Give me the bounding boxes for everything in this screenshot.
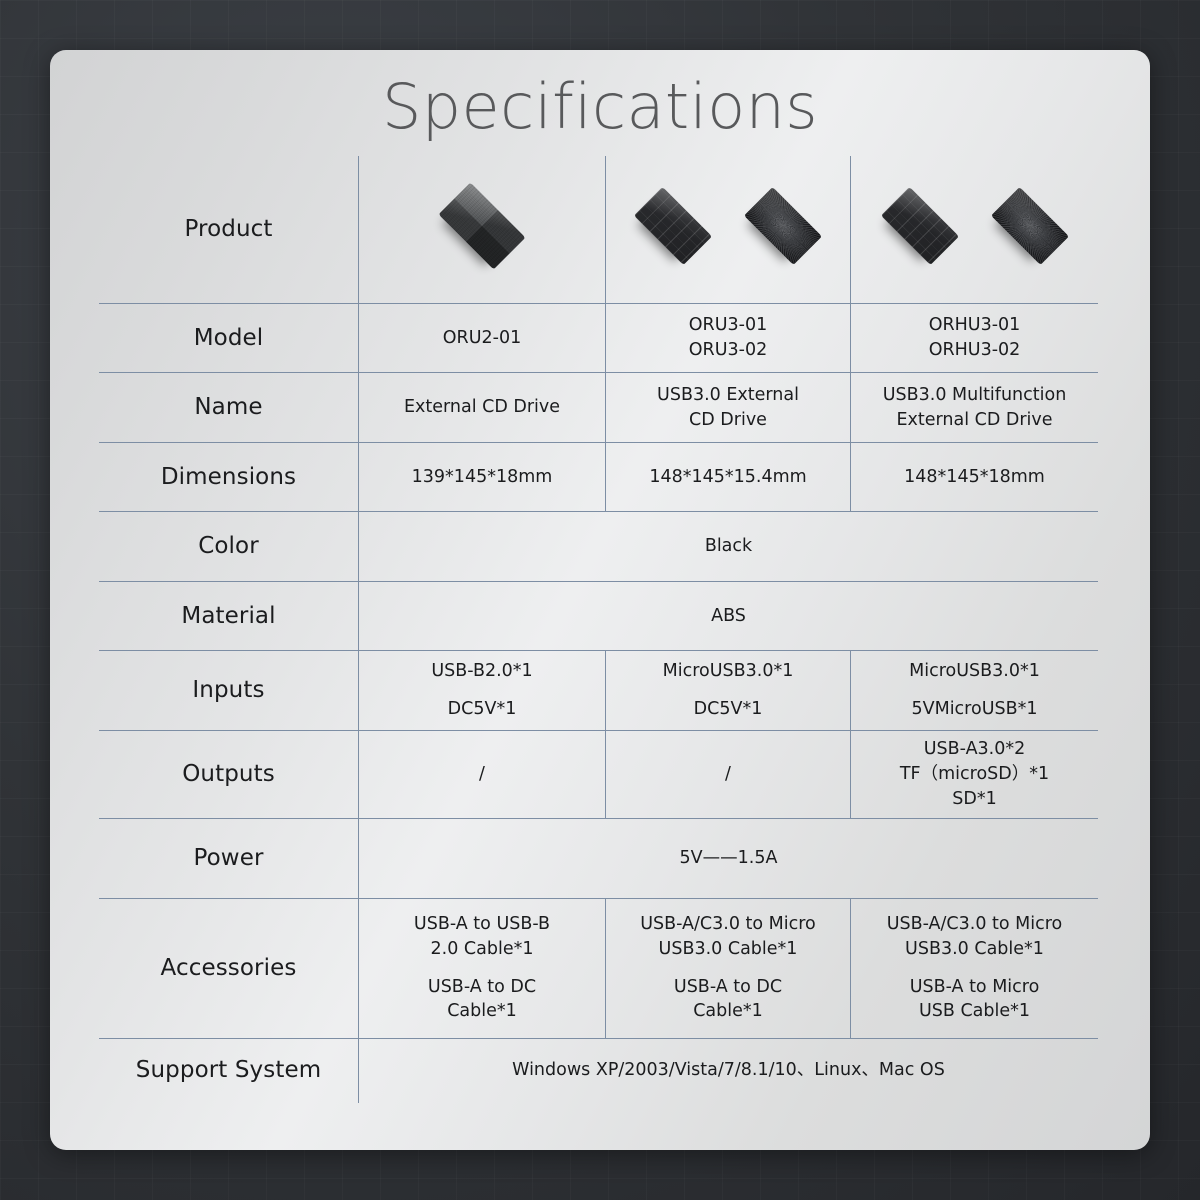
table-row-product: Product — [99, 156, 1099, 304]
model-value-col3: ORHU3-01 ORHU3-02 — [851, 304, 1099, 373]
cd-drive-black-radial-icon — [735, 182, 831, 278]
table-row-model: Model ORU2-01 ORU3-01 ORU3-02 ORHU3-01 O… — [99, 304, 1099, 373]
table-row-name: Name External CD Drive USB3.0 External C… — [99, 373, 1099, 443]
name-value-col3: USB3.0 Multifunction External CD Drive — [851, 373, 1099, 443]
table-row-inputs: Inputs USB-B2.0*1 DC5V*1 MicroUSB3.0*1 D… — [99, 651, 1099, 731]
model-value-col3-line1: ORHU3-01 — [858, 313, 1091, 338]
name-value-col3-line2: External CD Drive — [858, 408, 1091, 433]
inputs-value-col2-line1: MicroUSB3.0*1 — [613, 659, 843, 684]
accessories-value-col3-line3: USB-A to Micro — [858, 975, 1091, 1000]
table-row-dimensions: Dimensions 139*145*18mm 148*145*15.4mm 1… — [99, 443, 1099, 512]
accessories-value-col2-line2: USB3.0 Cable*1 — [613, 937, 843, 962]
power-value: 5V——1.5A — [359, 818, 1099, 898]
name-value-col3-line1: USB3.0 Multifunction — [858, 383, 1091, 408]
product-image-cell-col3 — [851, 156, 1099, 304]
accessories-value-col2-line4: Cable*1 — [613, 999, 843, 1024]
inputs-value-col3: MicroUSB3.0*1 5VMicroUSB*1 — [851, 651, 1099, 731]
dimensions-value-col1: 139*145*18mm — [359, 443, 606, 512]
outputs-value-col3-line2: TF（microSD）*1 — [858, 762, 1091, 787]
specifications-table-wrapper: Product — [98, 155, 1098, 1104]
row-label-dimensions: Dimensions — [99, 443, 359, 512]
inputs-value-col1-line2: DC5V*1 — [366, 697, 598, 722]
product-image-cell-col2 — [606, 156, 851, 304]
page-title: Specifications — [50, 50, 1150, 144]
row-label-material: Material — [99, 582, 359, 651]
outputs-value-col3: USB-A3.0*2 TF（microSD）*1 SD*1 — [851, 731, 1099, 819]
row-label-support-system: Support System — [99, 1038, 359, 1103]
name-value-col2: USB3.0 External CD Drive — [606, 373, 851, 443]
table-row-material: Material ABS — [99, 582, 1099, 651]
table-row-outputs: Outputs / / USB-A3.0*2 TF（microSD）*1 SD*… — [99, 731, 1099, 819]
inputs-value-col1: USB-B2.0*1 DC5V*1 — [359, 651, 606, 731]
table-row-color: Color Black — [99, 512, 1099, 582]
inputs-value-col3-line2: 5VMicroUSB*1 — [858, 697, 1091, 722]
row-label-power: Power — [99, 818, 359, 898]
outputs-value-col3-line3: SD*1 — [858, 787, 1091, 812]
model-value-col3-line2: ORHU3-02 — [858, 338, 1091, 363]
specifications-card: Specifications Product — [50, 50, 1150, 1150]
row-label-accessories: Accessories — [99, 898, 359, 1038]
dimensions-value-col3: 148*145*18mm — [851, 443, 1099, 512]
inputs-value-col1-line1: USB-B2.0*1 — [366, 659, 598, 684]
accessories-value-col3-line2: USB3.0 Cable*1 — [858, 937, 1091, 962]
accessories-value-col2: USB-A/C3.0 to Micro USB3.0 Cable*1 USB-A… — [606, 898, 851, 1038]
accessories-value-col1-line1: USB-A to USB-B — [366, 912, 598, 937]
dimensions-value-col2: 148*145*15.4mm — [606, 443, 851, 512]
support-system-value: Windows XP/2003/Vista/7/8.1/10、Linux、Mac… — [359, 1038, 1099, 1103]
accessories-value-col1-line2: 2.0 Cable*1 — [366, 937, 598, 962]
cd-drive-black-ridged-icon — [872, 182, 968, 278]
row-label-model: Model — [99, 304, 359, 373]
product-image-cell-col1 — [359, 156, 606, 304]
model-value-col2: ORU3-01 ORU3-02 — [606, 304, 851, 373]
inputs-value-col3-line1: MicroUSB3.0*1 — [858, 659, 1091, 684]
inputs-value-col2: MicroUSB3.0*1 DC5V*1 — [606, 651, 851, 731]
accessories-value-col3-line4: USB Cable*1 — [858, 999, 1091, 1024]
row-label-outputs: Outputs — [99, 731, 359, 819]
outputs-value-col1: / — [359, 731, 606, 819]
accessories-value-col1: USB-A to USB-B 2.0 Cable*1 USB-A to DC C… — [359, 898, 606, 1038]
name-value-col2-line1: USB3.0 External — [613, 383, 843, 408]
color-value: Black — [359, 512, 1099, 582]
table-row-accessories: Accessories USB-A to USB-B 2.0 Cable*1 U… — [99, 898, 1099, 1038]
inputs-value-col2-line2: DC5V*1 — [613, 697, 843, 722]
specifications-table: Product — [98, 155, 1099, 1104]
outputs-value-col2: / — [606, 731, 851, 819]
row-label-name: Name — [99, 373, 359, 443]
accessories-value-col2-line1: USB-A/C3.0 to Micro — [613, 912, 843, 937]
row-label-product: Product — [99, 156, 359, 304]
accessories-value-col1-line4: Cable*1 — [366, 999, 598, 1024]
model-value-col1: ORU2-01 — [359, 304, 606, 373]
accessories-value-col3: USB-A/C3.0 to Micro USB3.0 Cable*1 USB-A… — [851, 898, 1099, 1038]
accessories-value-col2-line3: USB-A to DC — [613, 975, 843, 1000]
cd-drive-black-ridged-icon — [625, 182, 721, 278]
name-value-col1: External CD Drive — [359, 373, 606, 443]
accessories-value-col1-line3: USB-A to DC — [366, 975, 598, 1000]
row-label-inputs: Inputs — [99, 651, 359, 731]
model-value-col2-line1: ORU3-01 — [613, 313, 843, 338]
outputs-value-col3-line1: USB-A3.0*2 — [858, 737, 1091, 762]
material-value: ABS — [359, 582, 1099, 651]
cd-drive-black-radial-icon — [982, 182, 1078, 278]
model-value-col2-line2: ORU3-02 — [613, 338, 843, 363]
name-value-col2-line2: CD Drive — [613, 408, 843, 433]
table-row-power: Power 5V——1.5A — [99, 818, 1099, 898]
row-label-color: Color — [99, 512, 359, 582]
accessories-value-col3-line1: USB-A/C3.0 to Micro — [858, 912, 1091, 937]
table-row-support-system: Support System Windows XP/2003/Vista/7/8… — [99, 1038, 1099, 1103]
cd-drive-silver-quad-icon — [430, 178, 534, 282]
